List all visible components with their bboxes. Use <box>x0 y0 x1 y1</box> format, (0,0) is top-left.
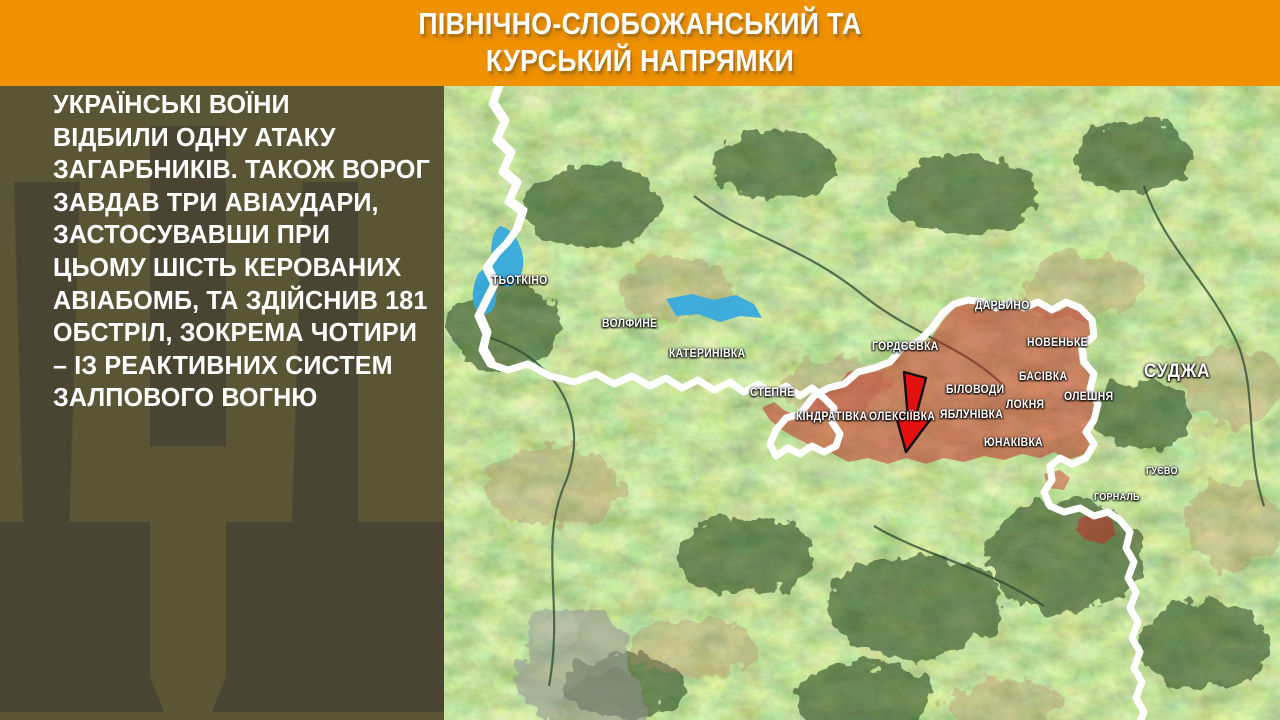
summary-panel: УКРАЇНСЬКІ ВОЇНИ ВІДБИЛИ ОДНУ АТАКУ ЗАГА… <box>0 86 444 720</box>
infographic-root: ПІВНІЧНО-СЛОБОЖАНСЬКИЙ ТА КУРСЬКИЙ НАПРЯ… <box>0 0 1280 720</box>
map-graphics <box>444 86 1280 720</box>
summary-text: УКРАЇНСЬКІ ВОЇНИ ВІДБИЛИ ОДНУ АТАКУ ЗАГА… <box>53 89 437 415</box>
trident-tail-point <box>150 522 226 720</box>
satellite-map[interactable]: ТЬОТКІНОВОЛФИНЕКАТЕРИНІВКАСТЕПНЕКІНДРАТІ… <box>444 86 1280 720</box>
header-banner: ПІВНІЧНО-СЛОБОЖАНСЬКИЙ ТА КУРСЬКИЙ НАПРЯ… <box>0 0 1280 86</box>
page-title: ПІВНІЧНО-СЛОБОЖАНСЬКИЙ ТА КУРСЬКИЙ НАПРЯ… <box>90 5 1191 79</box>
